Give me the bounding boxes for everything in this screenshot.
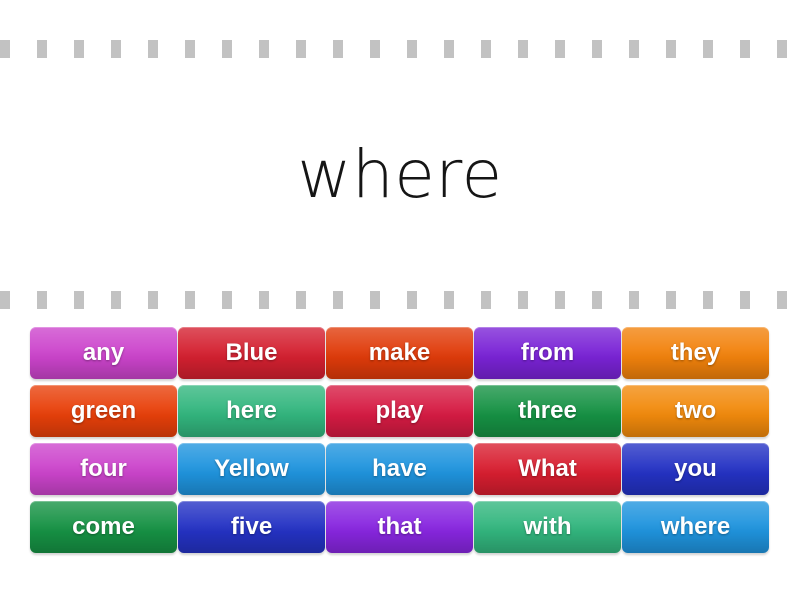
answer-tile[interactable]: have [326, 443, 473, 495]
answer-tile-label: Yellow [214, 457, 289, 481]
dashed-separator-top [0, 40, 800, 58]
answer-tile-label: come [72, 515, 135, 539]
answer-tile[interactable]: you [622, 443, 769, 495]
answer-tile-label: you [674, 457, 717, 481]
prompt-area: where [0, 58, 800, 291]
answer-tile[interactable]: Yellow [178, 443, 325, 495]
answer-tile-label: five [231, 515, 272, 539]
answer-tile[interactable]: five [178, 501, 325, 553]
answer-tile[interactable]: Blue [178, 327, 325, 379]
answer-tile-label: with [524, 515, 572, 539]
dashed-separator-middle [0, 291, 800, 309]
answer-tile-label: make [369, 341, 430, 365]
answer-tile[interactable]: that [326, 501, 473, 553]
answer-tile[interactable]: What [474, 443, 621, 495]
answer-tile-label: any [83, 341, 124, 365]
answer-tile-label: four [80, 457, 127, 481]
answer-tile-label: three [518, 399, 577, 423]
answer-tile-label: play [375, 399, 423, 423]
answer-tile-label: What [518, 457, 577, 481]
answer-tile-label: from [521, 341, 574, 365]
answer-tile[interactable]: four [30, 443, 177, 495]
answer-tile-label: they [671, 341, 720, 365]
answer-tile-label: that [378, 515, 422, 539]
answer-tile[interactable]: green [30, 385, 177, 437]
answer-tile-label: green [71, 399, 136, 423]
answer-tile[interactable]: two [622, 385, 769, 437]
answer-tile-label: have [372, 457, 427, 481]
answer-tile-label: where [661, 515, 730, 539]
answer-tile[interactable]: three [474, 385, 621, 437]
answer-tile[interactable]: where [622, 501, 769, 553]
answer-tile-grid: anyBluemakefromtheygreenhereplaythreetwo… [30, 327, 770, 553]
answer-tile[interactable]: make [326, 327, 473, 379]
prompt-word: where [297, 142, 502, 208]
answer-tile[interactable]: with [474, 501, 621, 553]
answer-tile[interactable]: any [30, 327, 177, 379]
answer-tile[interactable]: play [326, 385, 473, 437]
answer-tile-label: two [675, 399, 716, 423]
answer-tile-label: Blue [225, 341, 277, 365]
answer-tile[interactable]: they [622, 327, 769, 379]
answer-tile-label: here [226, 399, 277, 423]
answer-tile[interactable]: here [178, 385, 325, 437]
answer-tile[interactable]: from [474, 327, 621, 379]
answer-tile[interactable]: come [30, 501, 177, 553]
